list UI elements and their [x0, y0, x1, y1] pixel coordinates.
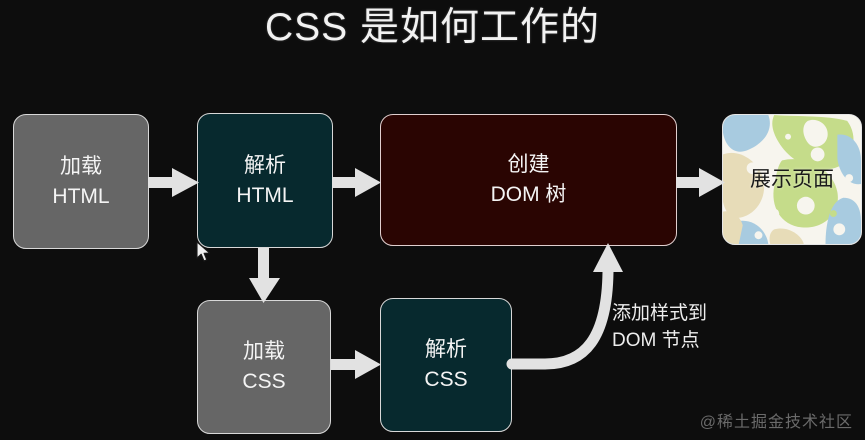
annotation-line2: DOM 节点: [612, 327, 707, 354]
node-load-css[interactable]: 加载 CSS: [197, 300, 331, 434]
node-parse-css-line1: 解析: [425, 335, 467, 365]
node-load-html-line2: HTML: [52, 182, 109, 212]
arrow-load-css-to-parse-css: [331, 350, 381, 379]
node-parse-html-line1: 解析: [244, 151, 286, 181]
watermark: @稀土掘金技术社区: [700, 408, 853, 432]
node-display-page[interactable]: 展示页面: [722, 114, 862, 245]
annotation-add-styles: 添加样式到 DOM 节点: [612, 300, 707, 354]
page-title: CSS 是如何工作的: [0, 2, 865, 54]
node-parse-html-line2: HTML: [236, 181, 293, 211]
node-parse-html[interactable]: 解析 HTML: [197, 113, 333, 248]
node-load-html-line1: 加载: [60, 152, 102, 182]
node-build-dom-tree-line2: DOM 树: [491, 180, 567, 210]
node-load-html[interactable]: 加载 HTML: [13, 114, 149, 249]
arrow-parse-html-to-build-dom: [332, 168, 381, 197]
mouse-pointer-arrow-icon: [196, 241, 212, 263]
arrow-parse-html-to-load-css: [249, 248, 280, 303]
annotation-line1: 添加样式到: [612, 300, 707, 327]
slide-canvas: CSS 是如何工作的: [0, 0, 865, 440]
arrow-load-html-to-parse-html: [148, 168, 199, 197]
node-load-css-line1: 加载: [243, 337, 285, 367]
node-build-dom-tree[interactable]: 创建 DOM 树: [380, 114, 677, 246]
node-parse-css-line2: CSS: [424, 365, 467, 395]
node-display-page-label: 展示页面: [750, 165, 834, 195]
node-parse-css[interactable]: 解析 CSS: [380, 298, 512, 432]
node-build-dom-tree-line1: 创建: [508, 150, 550, 180]
arrow-parse-css-to-build-dom-curved: [512, 243, 623, 364]
arrow-build-dom-to-display: [676, 168, 725, 197]
node-load-css-line2: CSS: [242, 367, 285, 397]
